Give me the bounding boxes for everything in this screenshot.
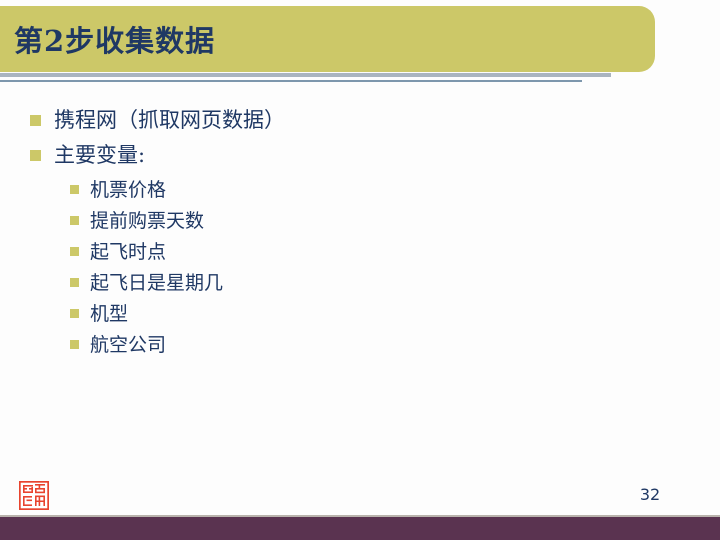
sub-bullet-label: 起飞时点 — [90, 237, 166, 267]
slide-page-number: 32 — [620, 485, 680, 504]
bullet-item-level2: 起飞日是星期几 — [70, 268, 670, 299]
square-bullet-icon — [30, 150, 41, 161]
sub-bullet-label: 机票价格 — [90, 175, 166, 205]
square-bullet-icon — [70, 340, 79, 349]
slide-title: 第2步收集数据 — [14, 18, 614, 60]
bullet-item-level2: 提前购票天数 — [70, 206, 670, 237]
bullet-item-level1: 主要变量: — [30, 139, 670, 171]
slide-body-content: 携程网（抓取网页数据） 主要变量: 机票价格 提前购票天数 起飞时点 起飞日是星… — [30, 104, 670, 361]
bullet-item-level1: 携程网（抓取网页数据） — [30, 104, 670, 136]
title-divider-thin — [0, 80, 582, 82]
presentation-slide: 第2步收集数据 携程网（抓取网页数据） 主要变量: 机票价格 提前购票天数 起飞… — [0, 0, 720, 540]
sub-bullet-label: 航空公司 — [90, 330, 166, 360]
sub-bullet-label: 机型 — [90, 299, 128, 329]
seal-stamp-icon — [19, 481, 49, 510]
sub-bullet-label: 提前购票天数 — [90, 206, 204, 236]
title-divider-thick — [0, 73, 611, 77]
bullet-item-level2: 机型 — [70, 299, 670, 330]
footer-bar — [0, 517, 720, 540]
sub-bullet-list: 机票价格 提前购票天数 起飞时点 起飞日是星期几 机型 航空公司 — [70, 175, 670, 361]
square-bullet-icon — [70, 216, 79, 225]
square-bullet-icon — [70, 185, 79, 194]
square-bullet-icon — [70, 278, 79, 287]
bullet-item-level2: 起飞时点 — [70, 237, 670, 268]
square-bullet-icon — [70, 309, 79, 318]
bullet-label: 主要变量: — [54, 139, 145, 171]
bullet-item-level2: 机票价格 — [70, 175, 670, 206]
bullet-item-level2: 航空公司 — [70, 330, 670, 361]
sub-bullet-label: 起飞日是星期几 — [90, 268, 223, 298]
square-bullet-icon — [70, 247, 79, 256]
square-bullet-icon — [30, 115, 41, 126]
bullet-label: 携程网（抓取网页数据） — [54, 104, 285, 136]
